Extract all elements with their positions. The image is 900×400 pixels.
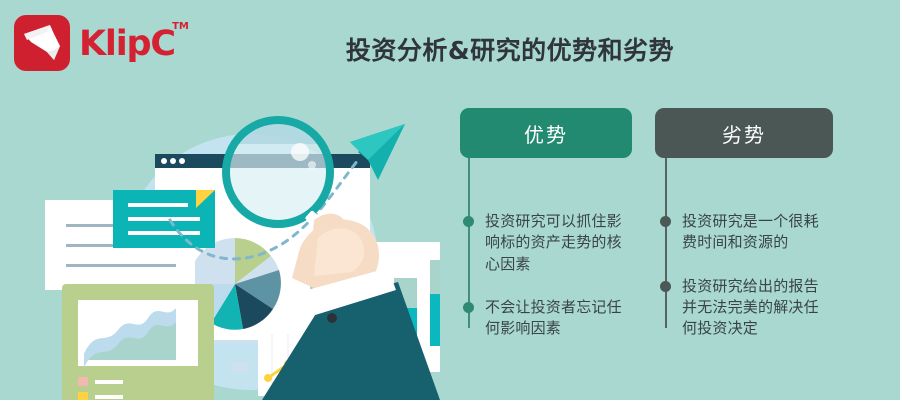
cons-badge-label: 劣势 xyxy=(722,119,766,148)
cons-bullet-text-1: 投资研究是一个很耗费时间和资源的 xyxy=(682,211,833,254)
list-item: 不会让投资者忘记任何影响因素 xyxy=(460,297,632,340)
cons-bullet-text-2: 投资研究给出的报告并无法完美的解决任何投资决定 xyxy=(682,276,833,340)
pros-badge-label: 优势 xyxy=(524,119,568,148)
pros-bullet-text-1: 投资研究可以抓住影响标的资产走势的核心因素 xyxy=(485,211,632,275)
bullet-dot-icon xyxy=(660,216,671,227)
cons-badge[interactable]: 劣势 xyxy=(655,108,833,158)
pros-bullet-list: 投资研究可以抓住影响标的资产走势的核心因素 不会让投资者忘记任何影响因素 xyxy=(460,211,632,339)
cons-bullet-list: 投资研究是一个很耗费时间和资源的 投资研究给出的报告并无法完美的解决任何投资决定 xyxy=(655,211,833,339)
pros-column: 优势 投资研究可以抓住影响标的资产走势的核心因素 不会让投资者忘记任何影响因素 xyxy=(460,108,632,339)
list-item: 投资研究给出的报告并无法完美的解决任何投资决定 xyxy=(655,276,833,340)
list-item: 投资研究可以抓住影响标的资产走势的核心因素 xyxy=(460,211,632,275)
investment-analysis-illustration-icon xyxy=(0,72,440,400)
list-item: 投资研究是一个很耗费时间和资源的 xyxy=(655,211,833,254)
cons-column: 劣势 投资研究是一个很耗费时间和资源的 投资研究给出的报告并无法完美的解决任何投… xyxy=(655,108,833,339)
brand-logo[interactable]: KlipCTM xyxy=(14,14,175,72)
pros-bullet-text-2: 不会让投资者忘记任何影响因素 xyxy=(485,297,632,340)
brand-wordmark: KlipCTM xyxy=(79,24,175,62)
pros-badge[interactable]: 优势 xyxy=(460,108,632,158)
bullet-dot-icon xyxy=(463,216,474,227)
brand-name-text: KlipC xyxy=(79,24,175,64)
bullet-dot-icon xyxy=(463,302,474,313)
infographic-canvas: KlipCTM 投资分析&研究的优势和劣势 xyxy=(0,0,900,400)
page-title: 投资分析&研究的优势和劣势 xyxy=(250,36,770,66)
trademark-symbol: TM xyxy=(172,22,189,32)
bullet-dot-icon xyxy=(660,281,671,292)
klipc-ribbon-logo-icon xyxy=(14,15,70,71)
